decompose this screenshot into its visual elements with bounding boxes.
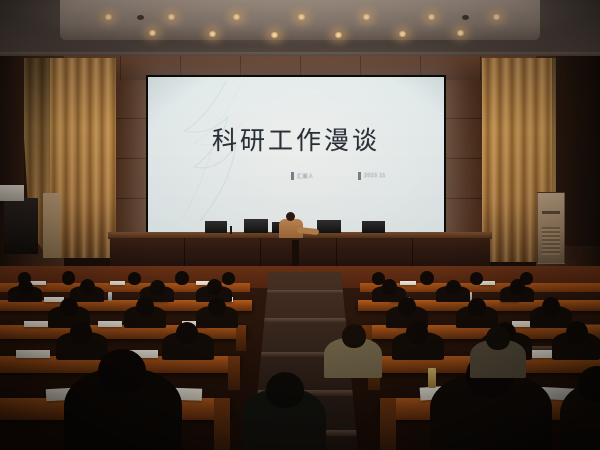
slide-title: 科研工作漫谈	[148, 121, 444, 157]
paper-sheet	[98, 321, 122, 327]
downlight	[104, 14, 113, 20]
monitor	[362, 221, 385, 233]
downlight	[270, 32, 279, 38]
desk-end-panel	[228, 356, 240, 390]
audience-head	[222, 272, 235, 285]
downlight	[398, 31, 407, 37]
desk-end-panel	[236, 325, 246, 351]
downlight	[362, 14, 371, 20]
downlight	[427, 14, 436, 20]
audience-head	[80, 279, 95, 295]
audience-head	[486, 326, 510, 350]
paper-sheet	[110, 281, 125, 285]
wall-panel-strip-right	[446, 80, 482, 236]
audience-head	[470, 272, 483, 285]
water-bottle	[428, 368, 436, 388]
microphone-stand	[230, 226, 232, 234]
paper-sheet	[24, 321, 50, 327]
audience-head	[566, 321, 588, 344]
downlight	[232, 14, 241, 20]
audience-head	[406, 321, 428, 344]
audience-head	[60, 298, 78, 316]
wall-sign-left	[0, 185, 24, 201]
side-cabinet-left	[43, 193, 61, 258]
audience-head	[208, 298, 226, 316]
ceiling-vent	[462, 15, 469, 20]
audience-head	[62, 271, 75, 285]
audience-head	[420, 271, 434, 285]
audience-head	[150, 280, 165, 295]
downlight	[208, 31, 217, 37]
downlight	[148, 30, 157, 36]
monitor	[244, 219, 268, 233]
water-bottle	[108, 292, 112, 301]
downlight	[334, 32, 343, 38]
speaker-head	[286, 212, 295, 221]
audience-head	[398, 297, 416, 316]
audience-head	[128, 272, 141, 285]
audience-head	[266, 372, 304, 408]
ceiling-vent	[137, 15, 144, 20]
downlight	[297, 14, 306, 20]
paper-sheet	[400, 281, 416, 285]
air-conditioner-unit	[537, 192, 565, 264]
downlight	[456, 30, 465, 36]
projection-screen: 科研工作漫谈 汇报人 2023.11	[148, 77, 444, 236]
monitor	[205, 221, 227, 233]
downlight	[492, 14, 501, 20]
audience-head	[382, 279, 397, 295]
wall-panel-strip-left	[112, 80, 146, 236]
audience-head	[98, 349, 146, 393]
audience-head	[207, 279, 222, 295]
audience-head	[70, 321, 92, 344]
lecture-hall-photo: 科研工作漫谈 汇报人 2023.11	[0, 0, 600, 450]
desk-end-panel	[380, 398, 396, 450]
audience-head	[468, 298, 486, 316]
subtitle-bullet-icon	[291, 172, 294, 180]
ceiling-light-row-back	[0, 24, 600, 48]
audience-head	[342, 324, 366, 348]
slide-subtitle-right: 2023.11	[358, 172, 386, 180]
speaker-box-left	[4, 198, 38, 254]
slide-date-label: 2023.11	[364, 173, 386, 179]
audience-head	[18, 280, 33, 295]
audience-head	[510, 279, 525, 295]
audience-head	[176, 322, 198, 344]
audience-head	[542, 297, 560, 316]
slide-subtitle-left: 汇报人	[291, 172, 314, 180]
audience-head	[175, 271, 189, 285]
paper-sheet	[16, 350, 50, 358]
slide-presenter-label: 汇报人	[297, 173, 314, 180]
subtitle-bullet-icon	[358, 172, 361, 180]
audience-head	[136, 297, 154, 316]
desk-end-panel	[214, 398, 230, 450]
downlight	[167, 14, 176, 20]
monitor	[317, 220, 341, 233]
audience-head	[446, 280, 461, 295]
